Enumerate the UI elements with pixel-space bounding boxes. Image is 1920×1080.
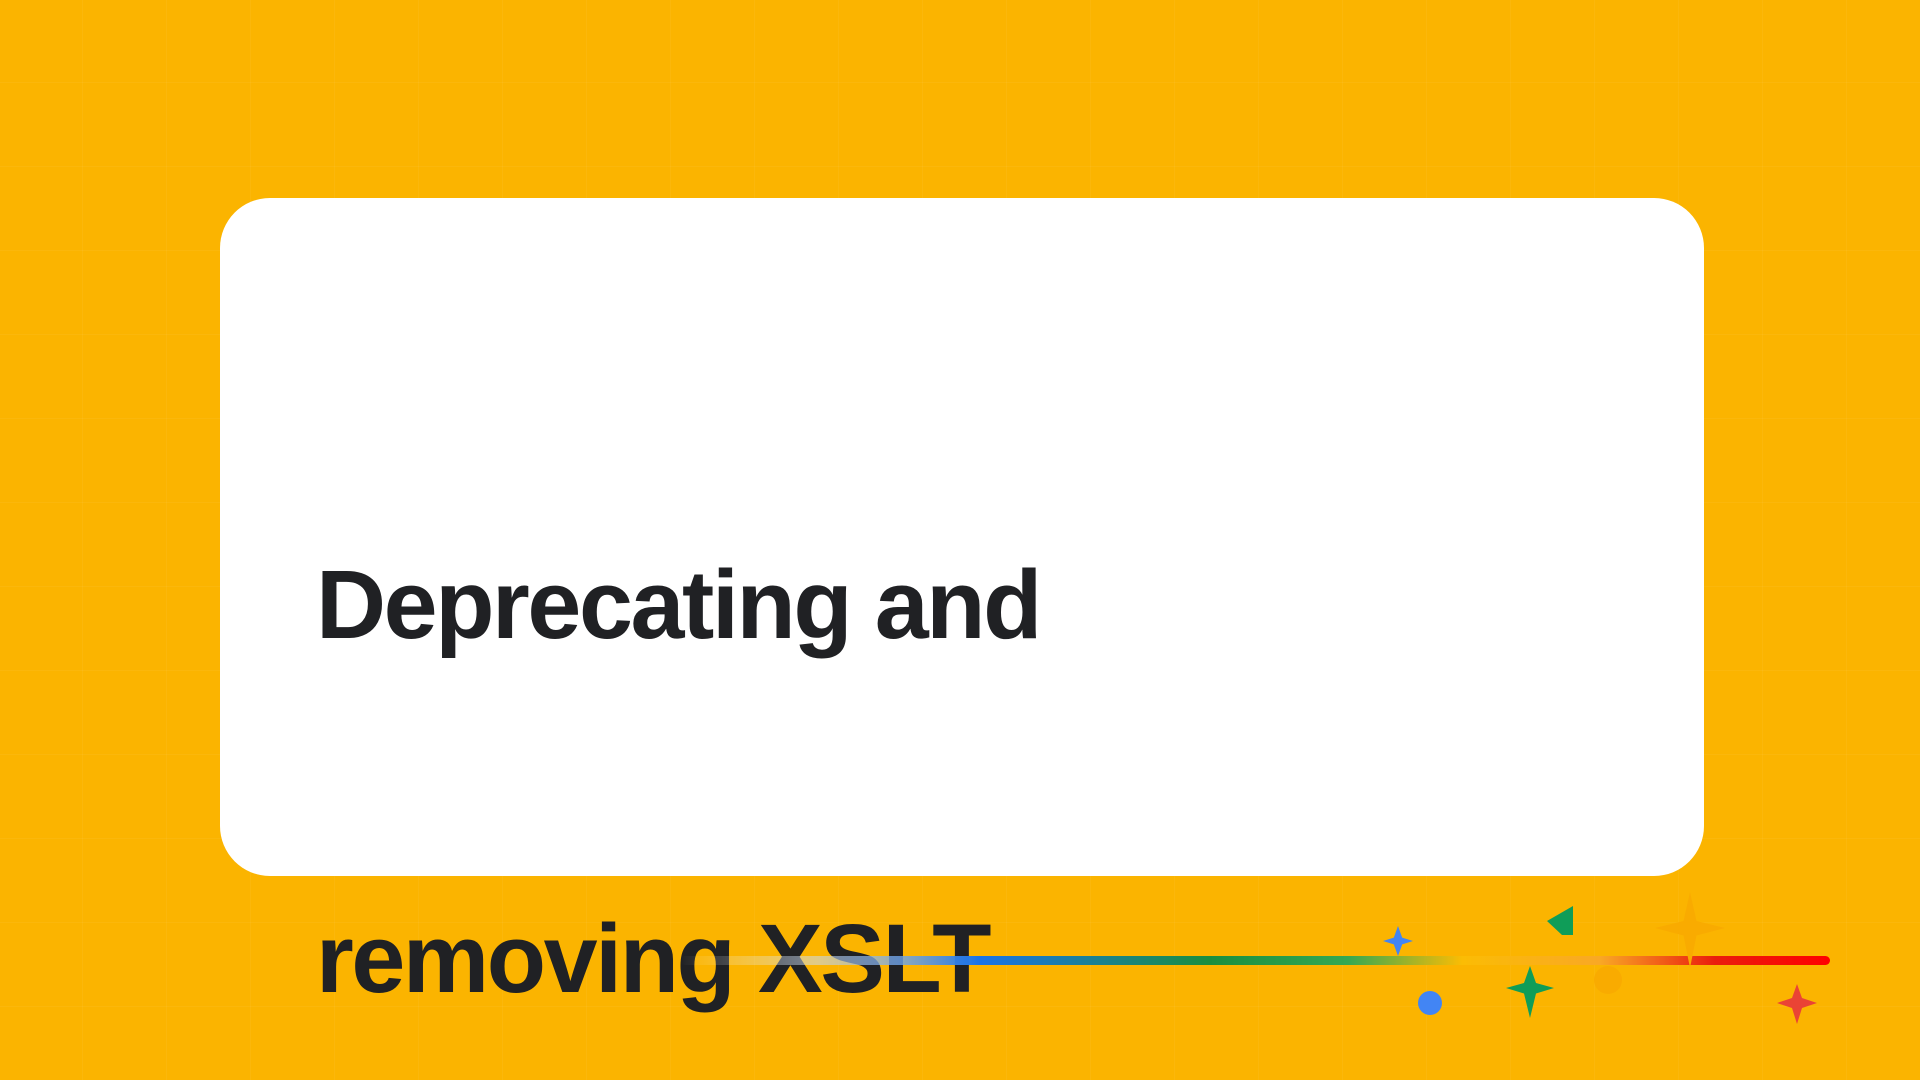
page-title: Deprecating and removing XSLT in the bro…: [316, 310, 1516, 1080]
headline-line-1: Deprecating and: [316, 546, 1516, 664]
headline-line-2: removing XSLT: [316, 900, 1516, 1018]
hero-card: Deprecating and removing XSLT in the bro…: [220, 198, 1704, 876]
